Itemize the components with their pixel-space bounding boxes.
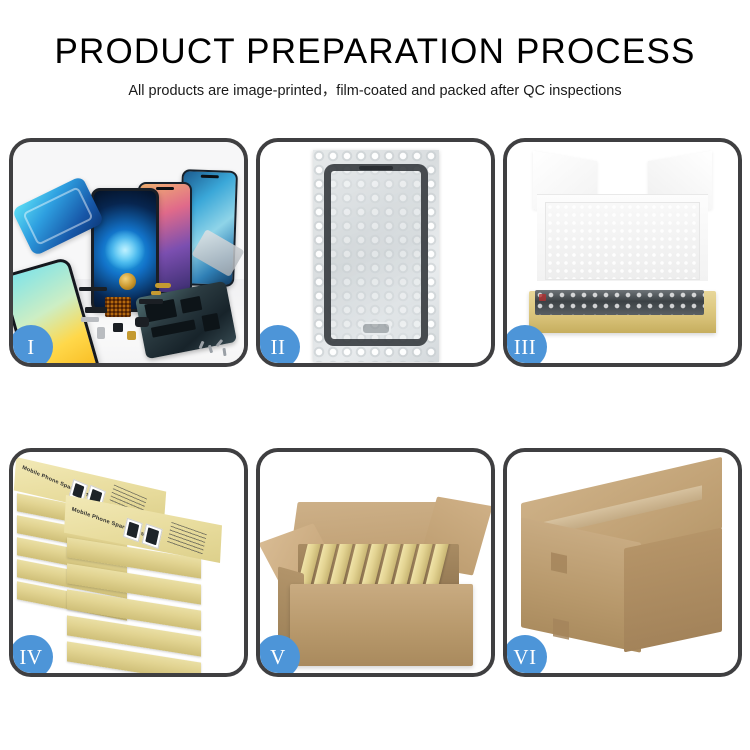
step-1-photo bbox=[13, 142, 244, 363]
step-5-photo bbox=[260, 452, 491, 673]
step-badge: VI bbox=[503, 635, 547, 677]
step-2-bubble-wrap[interactable]: II bbox=[256, 138, 495, 367]
step-4-retail-box-stack[interactable]: Mobile Phone Spare Parts Mobile Phone Sp… bbox=[9, 448, 248, 677]
step-5-carton-filled[interactable]: V bbox=[256, 448, 495, 677]
step-6-photo bbox=[507, 452, 738, 673]
step-badge: II bbox=[256, 325, 300, 367]
step-6-carton-sealed[interactable]: VI bbox=[503, 448, 742, 677]
step-badge: III bbox=[503, 325, 547, 367]
step-badge: IV bbox=[9, 635, 53, 677]
carton-tab-upper bbox=[551, 552, 567, 573]
box-tray-front bbox=[529, 317, 716, 333]
step-badge: V bbox=[256, 635, 300, 677]
home-button bbox=[361, 322, 391, 335]
wrapped-lcd-screen bbox=[324, 164, 428, 346]
process-step-grid: I II III bbox=[9, 138, 742, 677]
step-badge: I bbox=[9, 325, 53, 367]
page-header: PRODUCT PREPARATION PROCESS All products… bbox=[0, 0, 750, 101]
step-3-foam-box[interactable]: III bbox=[503, 138, 742, 367]
page-subtitle: All products are image-printed，film-coat… bbox=[0, 81, 750, 101]
page-title: PRODUCT PREPARATION PROCESS bbox=[0, 32, 750, 72]
step-1-products[interactable]: I bbox=[9, 138, 248, 367]
step-2-photo bbox=[260, 142, 491, 363]
spare-parts-cluster bbox=[79, 273, 189, 345]
retail-box-stack: Mobile Phone Spare Parts Mobile Phone Sp… bbox=[13, 452, 244, 673]
carton-right-panel bbox=[624, 528, 722, 653]
wrapped-screen-in-box bbox=[535, 290, 704, 315]
step-3-photo bbox=[507, 142, 738, 363]
step-4-photo: Mobile Phone Spare Parts Mobile Phone Sp… bbox=[13, 452, 244, 673]
foam-insert bbox=[545, 202, 700, 280]
screws bbox=[200, 339, 228, 357]
carton-tab-lower bbox=[553, 618, 569, 639]
carton-front-panel bbox=[290, 584, 473, 666]
